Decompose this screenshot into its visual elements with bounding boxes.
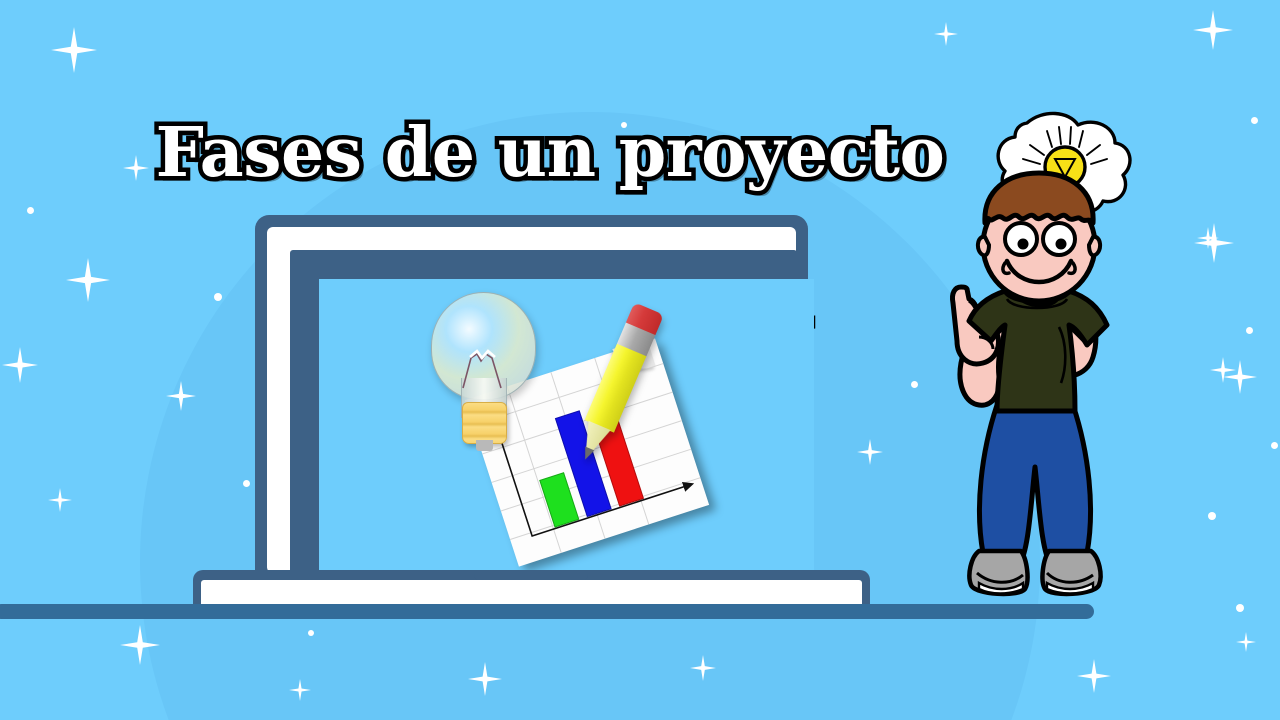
sparkle-star-icon — [166, 381, 196, 411]
sparkle-dot-icon — [243, 480, 250, 487]
sparkle-star-icon — [289, 679, 311, 701]
filament-icon — [457, 344, 511, 390]
lightbulb-icon — [431, 292, 547, 442]
sparkle-star-icon — [1236, 632, 1256, 652]
sparkle-dot-icon — [1236, 604, 1244, 612]
laptop-lid — [255, 215, 808, 585]
sparkle-star-icon — [468, 662, 502, 696]
sparkle-star-icon — [1197, 227, 1219, 249]
sparkle-star-icon — [2, 347, 38, 383]
character-shoes — [969, 551, 1100, 594]
sparkle-dot-icon — [1246, 327, 1253, 334]
sparkle-dot-icon — [1251, 117, 1258, 124]
ground-line — [0, 604, 1094, 619]
sparkle-dot-icon — [911, 381, 918, 388]
laptop-bezel — [267, 227, 796, 573]
character-head — [978, 173, 1100, 301]
sparkle-star-icon — [690, 655, 716, 681]
sparkle-dot-icon — [1271, 442, 1278, 449]
laptop-screen — [319, 279, 814, 591]
sparkle-star-icon — [1223, 360, 1257, 394]
laptop-inner-frame — [290, 250, 797, 574]
sparkle-star-icon — [857, 439, 883, 465]
sparkle-star-icon — [1210, 357, 1236, 383]
character-pants — [979, 405, 1090, 573]
sparkle-dot-icon — [308, 630, 314, 636]
sparkle-star-icon — [1193, 10, 1233, 50]
sparkle-star-icon — [1194, 223, 1234, 263]
sparkle-dot-icon — [1208, 512, 1216, 520]
sparkle-star-icon — [48, 488, 72, 512]
character-boy — [935, 105, 1150, 615]
title-card-canvas: Fases de un proyecto de innovación — [0, 0, 1280, 720]
title-line-1: Fases de un proyecto — [156, 113, 945, 193]
screen-icon — [417, 290, 717, 580]
sparkle-star-icon — [1077, 659, 1111, 693]
sparkle-star-icon — [120, 625, 160, 665]
